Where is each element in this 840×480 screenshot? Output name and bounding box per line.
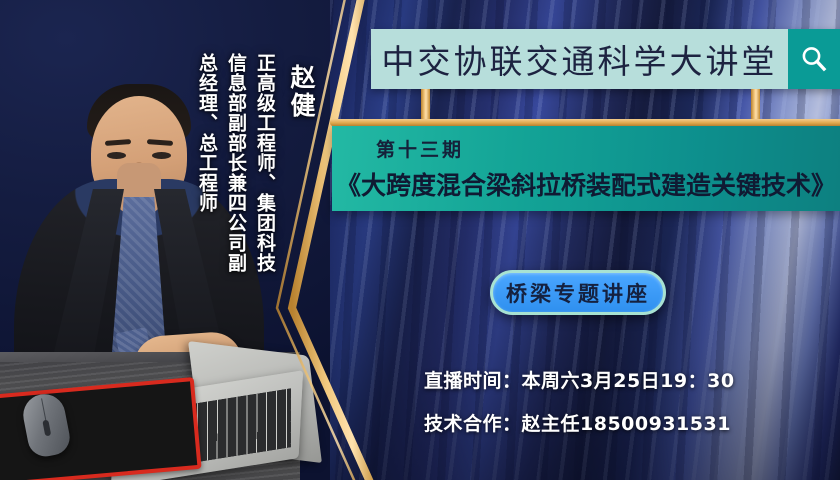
webinar-poster: 赵健 正高级工程师、集团科技 信息部副部长兼四公司副 总经理、总工程师 中交协联… [0,0,840,480]
mouse-pad [0,377,202,480]
desk-surface [0,358,300,480]
contact-text: 技术合作：赵主任18500931531 [424,409,731,436]
title-banner: 中交协联交通科学大讲堂 [371,29,840,89]
speaker-name: 赵健 [288,64,313,120]
speaker-title-line-3: 总经理、总工程师 [197,53,216,213]
eye-left [107,152,126,159]
lecture-title: 《大跨度混合梁斜拉桥装配式建造关键技术》 [332,166,840,202]
title-plate: 中交协联交通科学大讲堂 [371,29,788,89]
topic-button-label: 桥梁专题讲座 [506,278,650,308]
speaker-title-line-1: 正高级工程师、集团科技 [255,53,274,273]
speaker-title-line-2: 信息部副部长兼四公司副 [226,53,245,273]
live-time-text: 直播时间：本周六3月25日19：30 [424,366,735,393]
eye-right [152,152,171,159]
search-icon [799,44,829,74]
subtitle-banner: 第十三期 《大跨度混合梁斜拉桥装配式建造关键技术》 [332,124,840,211]
topic-button[interactable]: 桥梁专题讲座 [490,270,666,315]
speaker-panel-background [0,0,330,480]
eyebrow-right [147,139,173,146]
poster-title: 中交协联交通科学大讲堂 [382,35,778,83]
eyebrow-left [105,139,131,146]
issue-number: 第十三期 [376,135,464,162]
computer-mouse [20,391,73,460]
search-button[interactable] [788,29,840,89]
